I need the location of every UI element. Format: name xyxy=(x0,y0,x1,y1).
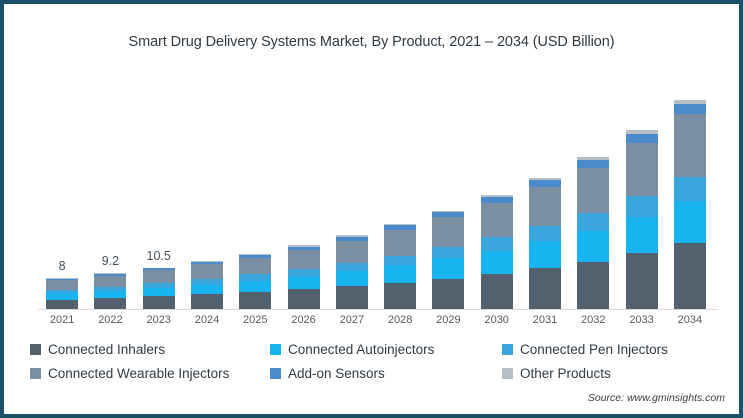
segment-connected-autoinjectors-2030[interactable] xyxy=(481,251,513,274)
segment-connected-inhalers-2026[interactable] xyxy=(288,289,320,310)
bar-2030[interactable] xyxy=(481,195,513,310)
segment-connected-inhalers-2027[interactable] xyxy=(336,286,368,310)
bar-2023[interactable]: 10.5 xyxy=(143,268,175,310)
x-axis-label-2028: 2028 xyxy=(375,314,425,326)
segment-connected-wearable-injectors-2030[interactable] xyxy=(481,203,513,237)
bar-2024[interactable] xyxy=(191,261,223,310)
legend-item-connected-pen-injectors[interactable]: Connected Pen Injectors xyxy=(502,342,668,357)
legend: Connected Inhalers Connected Autoinjecto… xyxy=(30,342,720,390)
segment-connected-inhalers-2030[interactable] xyxy=(481,274,513,310)
x-axis-label-2027: 2027 xyxy=(327,314,377,326)
segment-connected-pen-injectors-2033[interactable] xyxy=(626,196,658,217)
segment-connected-wearable-injectors-2022[interactable] xyxy=(94,276,126,287)
legend-swatch-other-products xyxy=(502,368,513,379)
segment-connected-inhalers-2034[interactable] xyxy=(674,243,706,310)
legend-label-connected-pen-injectors: Connected Pen Injectors xyxy=(520,342,668,357)
bar-2028[interactable] xyxy=(384,224,416,310)
legend-item-other-products[interactable]: Other Products xyxy=(502,366,611,381)
legend-label-other-products: Other Products xyxy=(520,366,611,381)
segment-connected-inhalers-2032[interactable] xyxy=(577,262,609,310)
segment-connected-wearable-injectors-2026[interactable] xyxy=(288,250,320,269)
segment-connected-wearable-injectors-2028[interactable] xyxy=(384,230,416,256)
segment-connected-wearable-injectors-2023[interactable] xyxy=(143,270,175,283)
legend-item-connected-autoinjectors[interactable]: Connected Autoinjectors xyxy=(270,342,502,357)
segment-connected-wearable-injectors-2027[interactable] xyxy=(336,241,368,263)
bar-2025[interactable] xyxy=(239,254,271,310)
plot-area: 89.210.5 xyxy=(38,92,714,310)
chart-title: Smart Drug Delivery Systems Market, By P… xyxy=(4,34,739,50)
bar-2029[interactable] xyxy=(432,211,464,310)
legend-label-connected-wearable-injectors: Connected Wearable Injectors xyxy=(48,366,229,381)
segment-connected-inhalers-2033[interactable] xyxy=(626,253,658,310)
segment-add-on-sensors-2032[interactable] xyxy=(577,160,609,168)
segment-connected-autoinjectors-2034[interactable] xyxy=(674,201,706,243)
segment-connected-inhalers-2023[interactable] xyxy=(143,296,175,310)
segment-connected-wearable-injectors-2031[interactable] xyxy=(529,187,561,227)
x-axis-label-2022: 2022 xyxy=(85,314,135,326)
segment-add-on-sensors-2033[interactable] xyxy=(626,134,658,143)
segment-connected-wearable-injectors-2029[interactable] xyxy=(432,217,464,247)
legend-label-add-on-sensors: Add-on Sensors xyxy=(288,366,385,381)
segment-connected-autoinjectors-2027[interactable] xyxy=(336,271,368,286)
bar-value-label-2023: 10.5 xyxy=(147,249,171,263)
segment-connected-autoinjectors-2024[interactable] xyxy=(191,285,223,295)
segment-connected-inhalers-2031[interactable] xyxy=(529,268,561,310)
segment-connected-autoinjectors-2033[interactable] xyxy=(626,217,658,253)
segment-connected-wearable-injectors-2024[interactable] xyxy=(191,264,223,279)
segment-connected-autoinjectors-2026[interactable] xyxy=(288,277,320,290)
x-axis-label-2031: 2031 xyxy=(520,314,570,326)
segment-connected-pen-injectors-2026[interactable] xyxy=(288,269,320,276)
legend-swatch-connected-inhalers xyxy=(30,344,41,355)
bar-2031[interactable] xyxy=(529,178,561,310)
legend-swatch-add-on-sensors xyxy=(270,368,281,379)
segment-connected-autoinjectors-2023[interactable] xyxy=(143,288,175,296)
legend-swatch-connected-autoinjectors xyxy=(270,344,281,355)
bar-2027[interactable] xyxy=(336,235,368,310)
x-axis-label-2034: 2034 xyxy=(665,314,715,326)
source-attribution: Source: www.gminsights.com xyxy=(588,392,725,404)
segment-connected-wearable-injectors-2025[interactable] xyxy=(239,258,271,275)
legend-swatch-connected-pen-injectors xyxy=(502,344,513,355)
segment-connected-pen-injectors-2034[interactable] xyxy=(674,177,706,201)
segment-connected-wearable-injectors-2033[interactable] xyxy=(626,143,658,197)
x-axis-label-2033: 2033 xyxy=(617,314,667,326)
segment-connected-wearable-injectors-2032[interactable] xyxy=(577,168,609,214)
segment-connected-inhalers-2029[interactable] xyxy=(432,279,464,310)
segment-connected-autoinjectors-2025[interactable] xyxy=(239,281,271,292)
segment-connected-wearable-injectors-2034[interactable] xyxy=(674,114,706,177)
x-axis-label-2029: 2029 xyxy=(423,314,473,326)
x-axis-label-2026: 2026 xyxy=(279,314,329,326)
legend-label-connected-autoinjectors: Connected Autoinjectors xyxy=(288,342,434,357)
bar-value-label-2021: 8 xyxy=(59,259,66,273)
segment-connected-inhalers-2025[interactable] xyxy=(239,292,271,310)
x-axis-label-2024: 2024 xyxy=(182,314,232,326)
x-axis-label-2025: 2025 xyxy=(230,314,280,326)
segment-connected-autoinjectors-2022[interactable] xyxy=(94,291,126,298)
x-axis-label-2023: 2023 xyxy=(134,314,184,326)
x-axis-label-2021: 2021 xyxy=(37,314,87,326)
segment-connected-wearable-injectors-2021[interactable] xyxy=(46,280,78,290)
legend-row-1: Connected Inhalers Connected Autoinjecto… xyxy=(30,342,720,357)
legend-row-2: Connected Wearable Injectors Add-on Sens… xyxy=(30,366,720,381)
x-axis-label-2032: 2032 xyxy=(568,314,618,326)
legend-item-connected-wearable-injectors[interactable]: Connected Wearable Injectors xyxy=(30,366,270,381)
segment-connected-inhalers-2024[interactable] xyxy=(191,294,223,310)
segment-connected-pen-injectors-2031[interactable] xyxy=(529,226,561,241)
segment-connected-pen-injectors-2030[interactable] xyxy=(481,237,513,250)
bar-2033[interactable] xyxy=(626,130,658,310)
segment-connected-pen-injectors-2029[interactable] xyxy=(432,247,464,258)
segment-connected-autoinjectors-2031[interactable] xyxy=(529,241,561,268)
legend-item-add-on-sensors[interactable]: Add-on Sensors xyxy=(270,366,502,381)
legend-label-connected-inhalers: Connected Inhalers xyxy=(48,342,165,357)
x-axis-label-2030: 2030 xyxy=(472,314,522,326)
legend-item-connected-inhalers[interactable]: Connected Inhalers xyxy=(30,342,270,357)
segment-add-on-sensors-2034[interactable] xyxy=(674,104,706,114)
chart-frame: Smart Drug Delivery Systems Market, By P… xyxy=(0,0,743,418)
segment-connected-autoinjectors-2032[interactable] xyxy=(577,231,609,262)
segment-connected-pen-injectors-2027[interactable] xyxy=(336,263,368,271)
bar-2022[interactable]: 9.2 xyxy=(94,273,126,310)
segment-connected-inhalers-2028[interactable] xyxy=(384,283,416,310)
legend-swatch-connected-wearable-injectors xyxy=(30,368,41,379)
segment-connected-pen-injectors-2032[interactable] xyxy=(577,213,609,231)
segment-connected-autoinjectors-2029[interactable] xyxy=(432,258,464,278)
bar-value-label-2022: 9.2 xyxy=(102,254,119,268)
segment-connected-pen-injectors-2028[interactable] xyxy=(384,256,416,266)
bar-2034[interactable] xyxy=(674,100,706,310)
bar-2032[interactable] xyxy=(577,157,609,310)
bar-2021[interactable]: 8 xyxy=(46,278,78,310)
bar-2026[interactable] xyxy=(288,245,320,310)
axis-baseline xyxy=(38,309,718,310)
segment-connected-autoinjectors-2028[interactable] xyxy=(384,265,416,282)
